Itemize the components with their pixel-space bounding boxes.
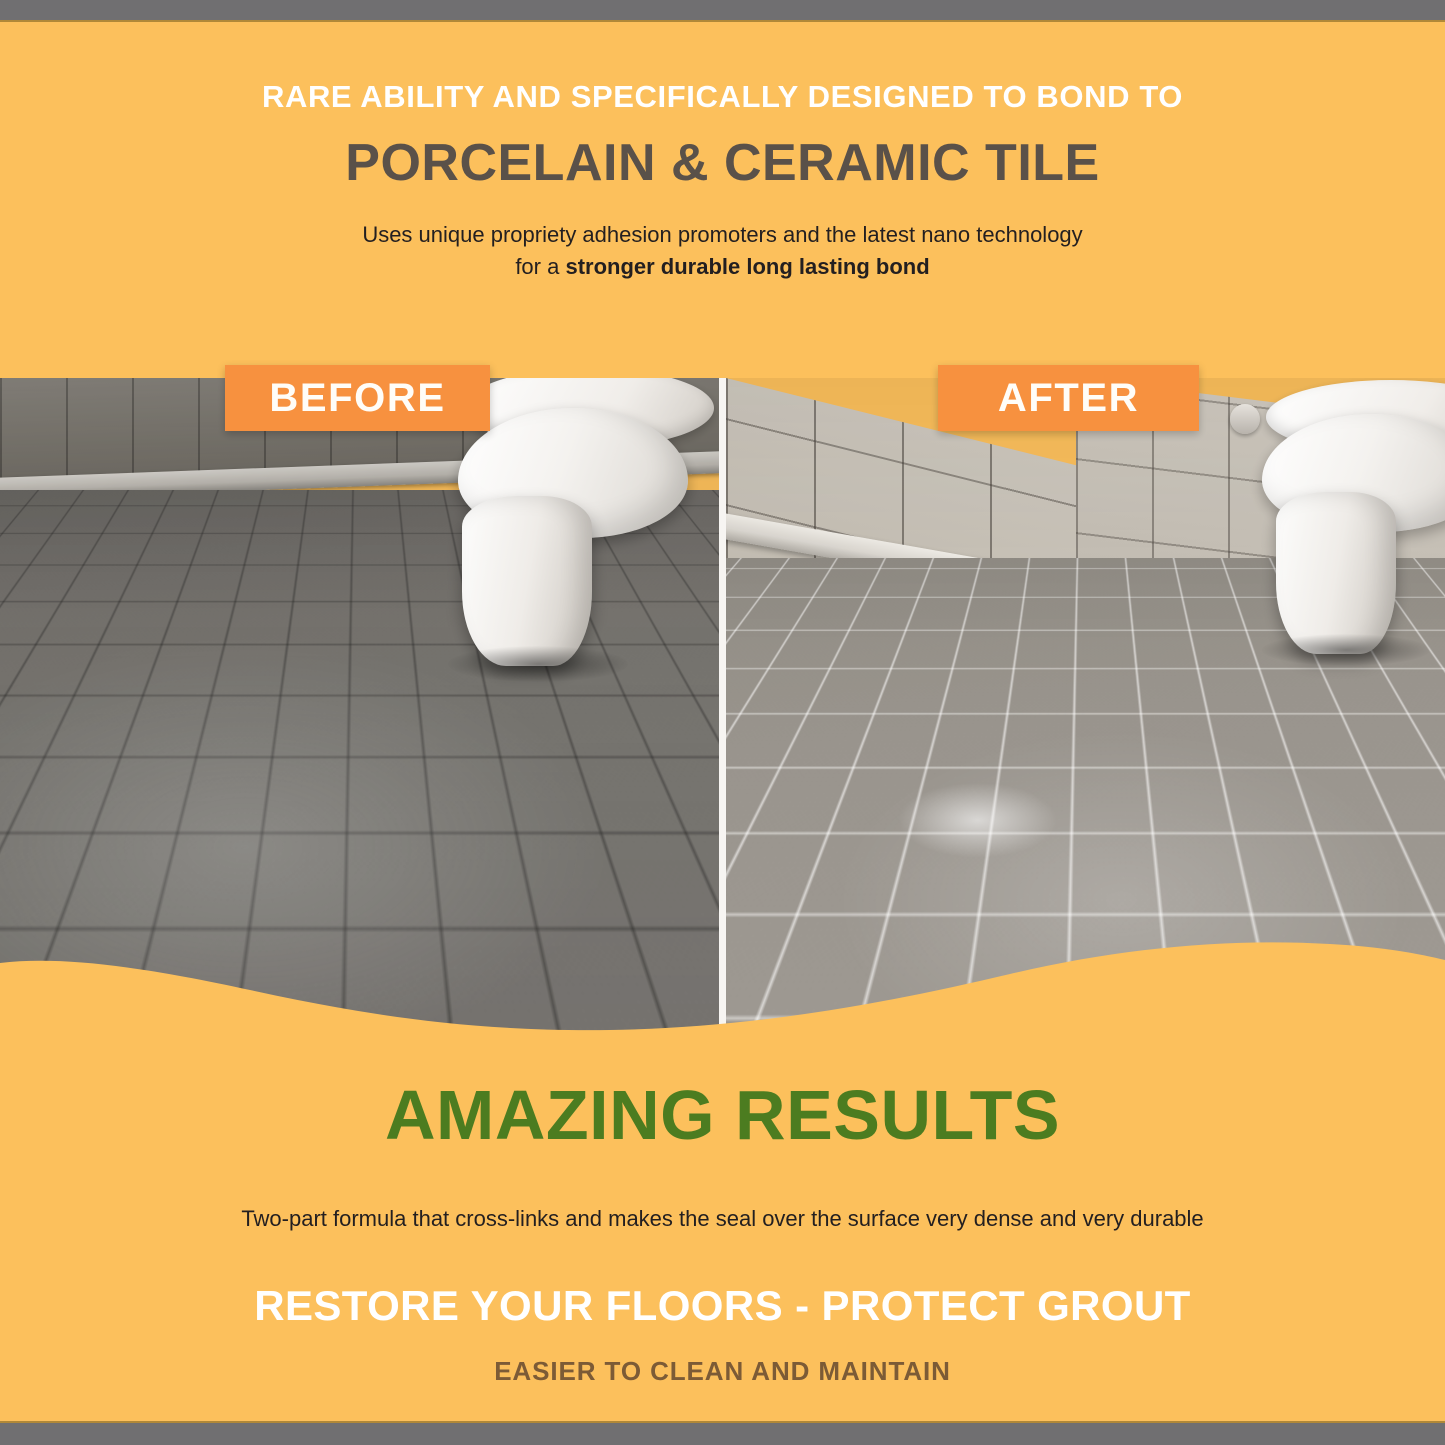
after-toilet <box>1226 380 1445 670</box>
amazing-results-heading: AMAZING RESULTS <box>0 1080 1445 1150</box>
eyebrow-heading: RARE ABILITY AND SPECIFICALLY DESIGNED T… <box>0 20 1445 114</box>
restore-headline: RESTORE YOUR FLOORS - PROTECT GROUT <box>0 1235 1445 1329</box>
before-badge: BEFORE <box>225 365 490 431</box>
after-toilet-pedestal <box>1276 492 1396 654</box>
after-photo: Restored glossy sealed ceramic tile bath… <box>726 378 1445 1048</box>
photo-divider <box>719 378 726 1048</box>
results-subtitle: Two-part formula that cross-links and ma… <box>0 1150 1445 1235</box>
before-photo: Dull worn gray ceramic tile bathroom flo… <box>0 378 720 1048</box>
after-toilet-shadow <box>1262 634 1430 666</box>
header-section: RARE ABILITY AND SPECIFICALLY DESIGNED T… <box>0 20 1445 282</box>
after-badge: AFTER <box>938 365 1199 431</box>
page-title: PORCELAIN & CERAMIC TILE <box>0 114 1445 191</box>
infographic-page: RARE ABILITY AND SPECIFICALLY DESIGNED T… <box>0 0 1445 1445</box>
bottom-frame-bar <box>0 1423 1445 1445</box>
subtitle-line-2-strong: stronger durable long lasting bond <box>565 254 929 279</box>
header-subtitle: Uses unique propriety adhesion promoters… <box>0 191 1445 283</box>
before-toilet-pedestal <box>462 496 592 666</box>
footer-section: AMAZING RESULTS Two-part formula that cr… <box>0 1080 1445 1386</box>
easier-tagline: EASIER TO CLEAN AND MAINTAIN <box>0 1329 1445 1386</box>
before-after-photo-strip: Dull worn gray ceramic tile bathroom flo… <box>0 378 1445 1048</box>
after-toilet-valve <box>1230 404 1260 434</box>
subtitle-line-2-prefix: for a <box>515 254 565 279</box>
subtitle-line-1: Uses unique propriety adhesion promoters… <box>362 222 1082 247</box>
before-toilet-shadow <box>448 646 628 682</box>
top-frame-bar <box>0 0 1445 20</box>
